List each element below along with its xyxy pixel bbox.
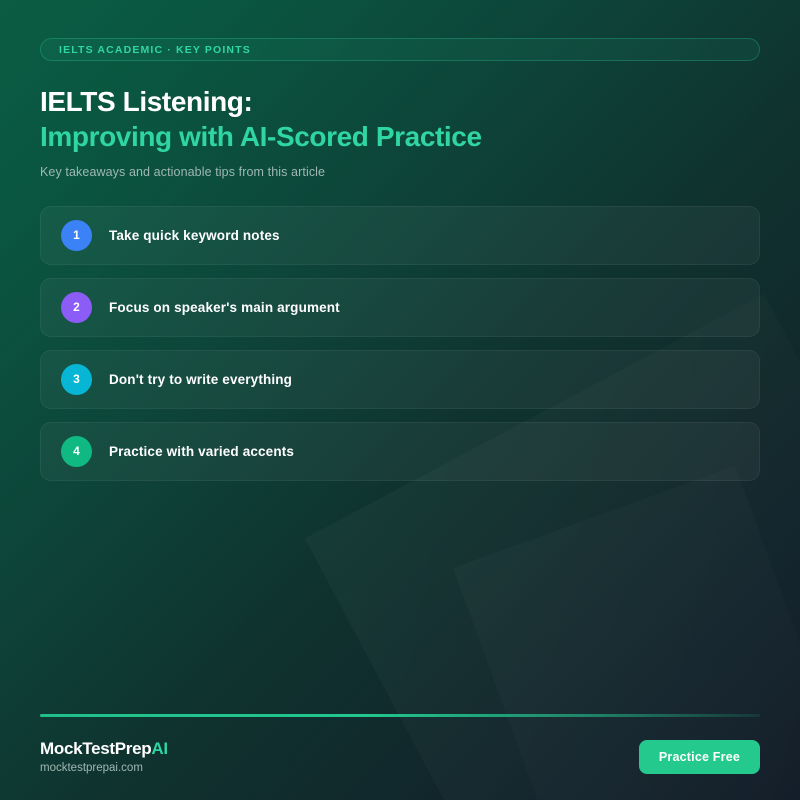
footer: MockTestPrepAI mocktestprepai.com Practi… [40,714,760,774]
category-badge: IELTS ACADEMIC · KEY POINTS [40,38,760,61]
key-point-number-badge: 3 [61,364,92,395]
brand-url: mocktestprepai.com [40,762,168,774]
key-point-number-badge: 4 [61,436,92,467]
card-content: IELTS ACADEMIC · KEY POINTS IELTS Listen… [0,0,800,800]
headline-line-1: IELTS Listening: [40,84,760,119]
headline-block: IELTS Listening: Improving with AI-Score… [40,84,760,155]
key-point-text: Don't try to write everything [109,372,292,387]
key-point-text: Focus on speaker's main argument [109,300,340,315]
footer-divider [40,714,760,717]
brand-name: MockTestPrepAI [40,739,168,759]
key-point-card: 3Don't try to write everything [40,350,760,409]
category-badge-label: IELTS ACADEMIC · KEY POINTS [59,44,251,56]
subtitle: Key takeaways and actionable tips from t… [40,165,760,179]
card-canvas: IELTS ACADEMIC · KEY POINTS IELTS Listen… [0,0,800,800]
headline-line-2: Improving with AI-Scored Practice [40,119,760,154]
key-points-list: 1Take quick keyword notes2Focus on speak… [40,206,760,481]
key-point-card: 2Focus on speaker's main argument [40,278,760,337]
key-point-number-badge: 2 [61,292,92,323]
key-point-card: 1Take quick keyword notes [40,206,760,265]
key-point-number-badge: 1 [61,220,92,251]
footer-row: MockTestPrepAI mocktestprepai.com Practi… [40,739,760,774]
key-point-card: 4Practice with varied accents [40,422,760,481]
practice-free-button[interactable]: Practice Free [639,740,760,774]
brand-block: MockTestPrepAI mocktestprepai.com [40,739,168,774]
brand-name-accent: AI [151,739,167,758]
key-point-text: Take quick keyword notes [109,228,280,243]
brand-name-main: MockTestPrep [40,739,151,758]
key-point-text: Practice with varied accents [109,444,294,459]
